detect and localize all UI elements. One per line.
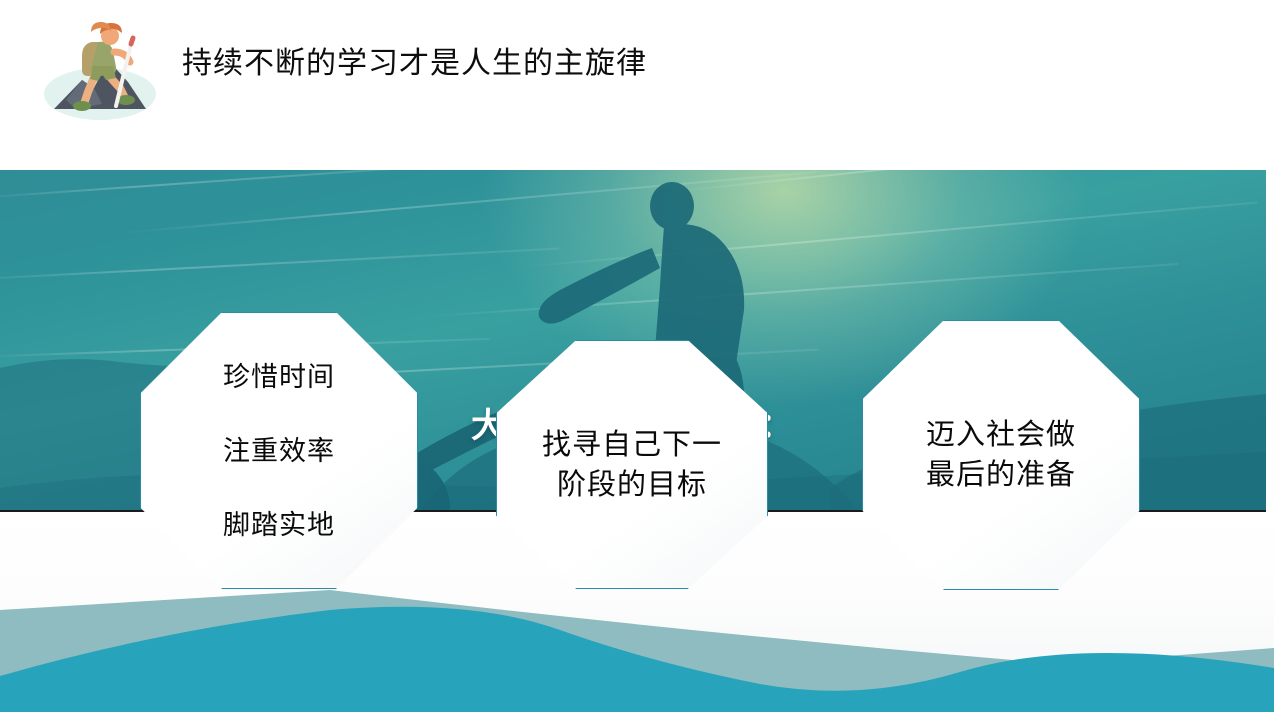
octagon-2-line-2: 阶段的目标 — [557, 465, 707, 505]
octagon-card-2[interactable]: 找寻自己下一 阶段的目标 — [496, 340, 768, 589]
octagon-1-line-2: 注重效率 — [223, 436, 335, 466]
slide-header: 持续不断的学习才是人生的主旋律 — [0, 0, 1274, 170]
slide-canvas: 持续不断的学习才是人生的主旋律 — [0, 0, 1274, 712]
octagon-3-line-2: 最后的准备 — [926, 455, 1076, 495]
octagon-1-line-1: 珍惜时间 — [223, 362, 335, 392]
octagon-card-1[interactable]: 珍惜时间 注重效率 脚踏实地 — [140, 312, 418, 589]
octagon-3-line-1: 迈入社会做 — [926, 415, 1076, 455]
page-title: 持续不断的学习才是人生的主旋律 — [182, 44, 647, 84]
octagon-2-line-1: 找寻自己下一 — [542, 425, 722, 465]
octagon-1-line-3: 脚踏实地 — [223, 510, 335, 540]
octagon-card-3[interactable]: 迈入社会做 最后的准备 — [862, 320, 1140, 590]
hiker-on-mountain-icon — [36, 8, 164, 128]
